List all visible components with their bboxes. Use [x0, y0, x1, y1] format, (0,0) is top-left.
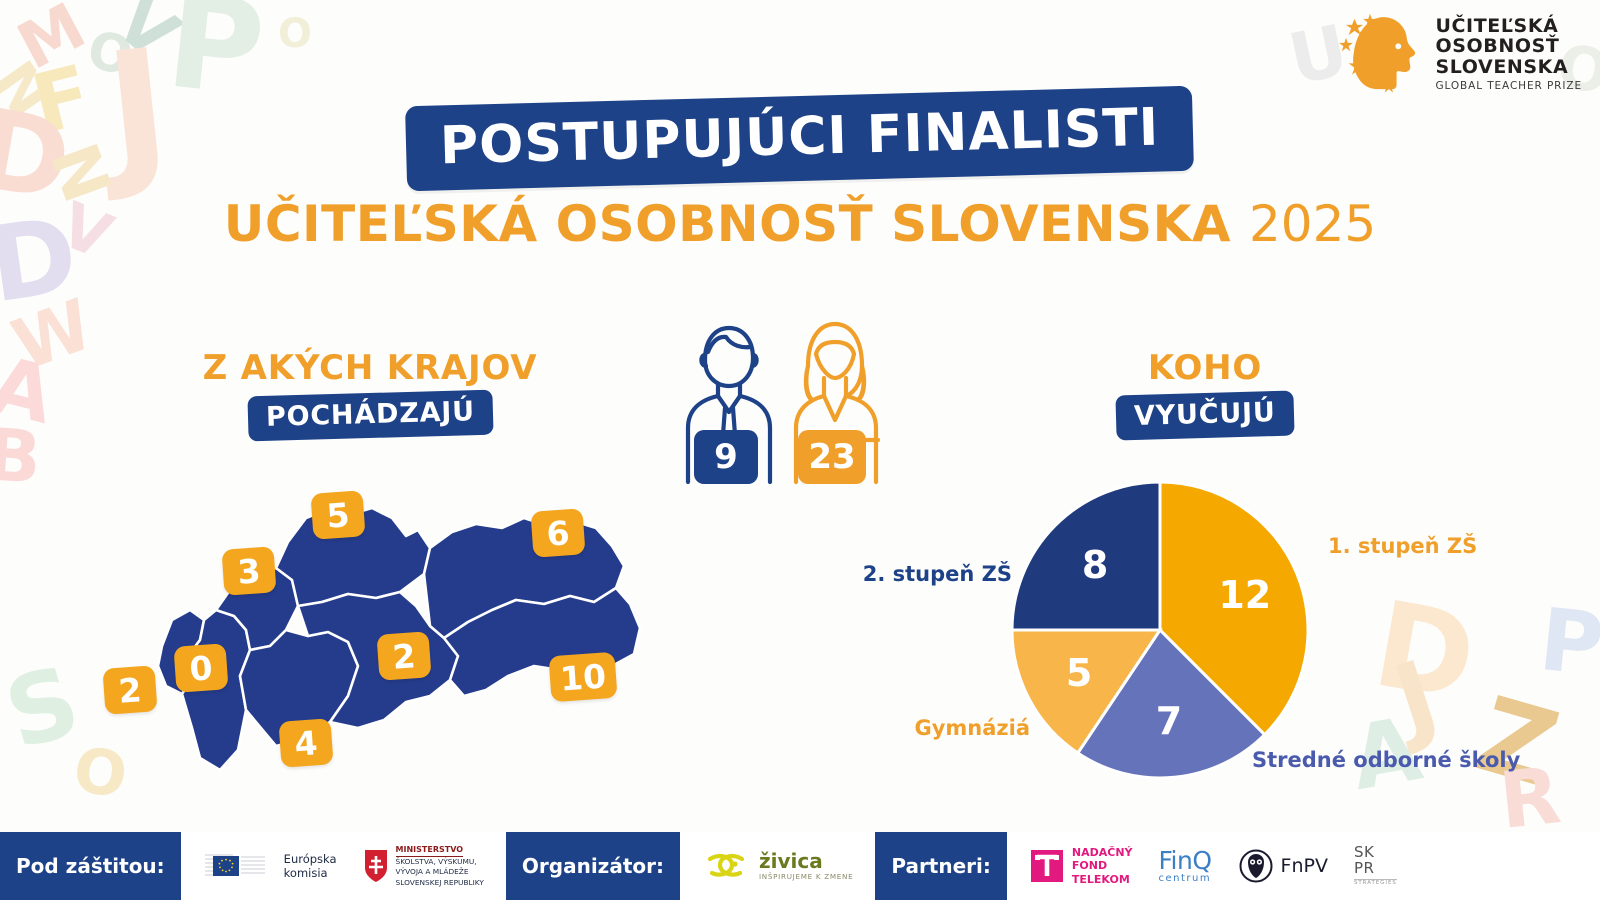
nadacny-fond-telekom-logo: NADAČNÝ FOND TELEKOM [1029, 846, 1133, 886]
finq-sub: centrum [1159, 874, 1212, 884]
background-letter: O [83, 24, 137, 84]
telekom-line-3: TELEKOM [1072, 873, 1133, 886]
fnpv-logo: FnPV [1238, 848, 1328, 884]
owl-circle-icon [1238, 848, 1274, 884]
section-heading-regions-chip: POCHÁDZAJÚ [247, 390, 493, 442]
eu-logo-line-2: komisia [284, 866, 337, 880]
female-count-badge: 23 [798, 430, 866, 484]
pie-label-1: Stredné odborné školy [1252, 748, 1520, 772]
pie-label-2: Gymnáziá [0, 716, 1030, 740]
slovak-coat-of-arms-icon [363, 848, 389, 884]
map-badge-banskobystricky: 2 [376, 631, 431, 681]
section-heading-teaching-chip: VYUČUJÚ [1116, 391, 1295, 441]
ministry-line-4: SLOVENSKEJ REPUBLIKY [396, 878, 484, 888]
background-letter: M [9, 0, 95, 80]
footer-partner-logos: NADAČNÝ FOND TELEKOM FinQ centrum [1007, 832, 1419, 900]
section-heading-regions-top: Z AKÝCH KRAJOV [160, 348, 580, 388]
infographic-canvas: MOVPOJNFDNVDWABSODJZAPRUO [0, 0, 1600, 900]
europska-komisia-logo: Európska komisia [203, 845, 337, 887]
fnpv-title: FnPV [1281, 855, 1328, 877]
footer-label-organizer: Organizátor: [506, 832, 680, 900]
subtitle-year: 2025 [1249, 195, 1376, 253]
map-badge-trnavsky: 0 [173, 643, 228, 693]
zivica-logo: živica INŠPIRUJEME K ZMENE [702, 849, 853, 883]
ministerstvo-skolstva-logo: MINISTERSTVO ŠKOLSTVA, VÝSKUMU, VÝVOJA A… [363, 844, 484, 888]
slovakia-map-svg [100, 470, 700, 790]
map-badge-presovsky: 6 [530, 508, 585, 558]
pie-value-0: 12 [1218, 573, 1271, 617]
section-heading-teaching-top: KOHO [1030, 348, 1380, 388]
slovakia-map: 563022104 [100, 470, 700, 790]
footer-label-partners: Partneri: [875, 832, 1007, 900]
finq-centrum-logo: FinQ centrum [1159, 848, 1212, 884]
background-letter: A [0, 346, 61, 436]
male-count-badge: 9 [694, 430, 758, 484]
title-banner: POSTUPUJÚCI FINALISTI [405, 86, 1194, 192]
skpr-sub: STRATEGIES [1354, 879, 1397, 887]
zivica-mark-icon [702, 849, 752, 883]
telekom-line-2: FOND [1072, 859, 1133, 872]
telekom-line-1: NADAČNÝ [1072, 846, 1133, 859]
skpr-strategies-logo: SK PR STRATEGIES [1354, 845, 1397, 886]
pie-value-1: 7 [1156, 699, 1182, 743]
brand-logo: UČITEĽSKÁ OSOBNOSŤ SLOVENSKA GLOBAL TEAC… [1339, 12, 1582, 96]
pie-label-3: 2. stupeň ZŠ [0, 562, 1012, 586]
eu-logo-line-1: Európska [284, 852, 337, 866]
zivica-tagline: INŠPIRUJEME K ZMENE [759, 873, 853, 881]
pie-value-2: 5 [1066, 651, 1092, 695]
footer-patronage-logos: Európska komisia MINISTERSTVO ŠKOLSTVA, … [181, 832, 506, 900]
sponsor-footer: Pod záštitou: [0, 832, 1600, 900]
ministry-line-3: VÝVOJA A MLÁDEŽE [396, 867, 484, 877]
map-badge-bratislavsky: 2 [102, 665, 157, 715]
background-letter: Z [1467, 682, 1568, 803]
map-badge-zilinsky: 5 [310, 490, 365, 540]
background-letter: B [0, 418, 43, 494]
background-letter: W [4, 289, 101, 381]
section-heading-regions: Z AKÝCH KRAJOV POCHÁDZAJÚ [160, 348, 580, 438]
finq-title: FinQ [1159, 848, 1212, 873]
pie-chart: 12758 [1010, 480, 1310, 780]
background-letter: V [104, 0, 191, 71]
logo-tagline: GLOBAL TEACHER PRIZE [1435, 81, 1582, 92]
footer-organizer-logos: živica INŠPIRUJEME K ZMENE [680, 832, 875, 900]
skpr-line-2: PR [1354, 861, 1397, 877]
gender-split: 9 23 [672, 300, 902, 500]
logo-line-3: SLOVENSKA [1435, 57, 1582, 78]
background-letter: D [1366, 584, 1483, 717]
star-head-icon [1339, 12, 1425, 96]
pie-label-0: 1. stupeň ZŠ [1328, 534, 1477, 558]
background-letter: S [0, 652, 89, 763]
telekom-t-icon [1029, 848, 1065, 884]
section-heading-teaching: KOHO VYUČUJÚ [1030, 348, 1380, 438]
logo-line-2: OSOBNOSŤ [1435, 36, 1582, 57]
background-letter: O [278, 14, 312, 54]
background-letter: J [1384, 647, 1448, 749]
map-badge-kosicky: 10 [548, 652, 617, 702]
subtitle-text: UČITEĽSKÁ OSOBNOSŤ SLOVENSKA [224, 195, 1231, 253]
footer-label-patronage: Pod záštitou: [0, 832, 181, 900]
logo-line-1: UČITEĽSKÁ [1435, 16, 1582, 37]
background-letter: P [1536, 597, 1600, 689]
ministry-line-2: ŠKOLSTVA, VÝSKUMU, [396, 857, 484, 867]
ministry-line-1: MINISTERSTVO [396, 844, 464, 857]
title-block: POSTUPUJÚCI FINALISTI UČITEĽSKÁ OSOBNOSŤ… [0, 96, 1600, 253]
zivica-title: živica [759, 850, 853, 873]
subtitle-row: UČITEĽSKÁ OSOBNOSŤ SLOVENSKA 2025 [0, 195, 1600, 253]
eu-flag-icon [203, 845, 277, 887]
pie-value-3: 8 [1082, 543, 1108, 587]
